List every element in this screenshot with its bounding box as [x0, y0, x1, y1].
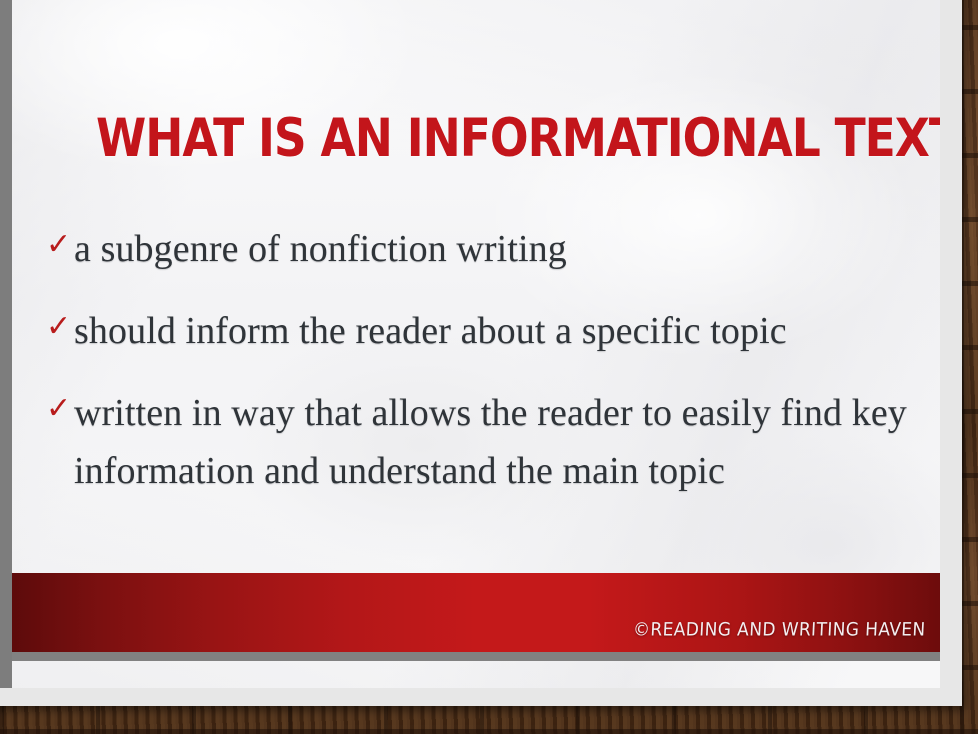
checkmark-icon: ✓ — [46, 384, 74, 434]
slide-canvas: WHAT IS AN INFORMATIONAL TEXT? ✓ a subge… — [12, 0, 940, 688]
footer-band-shadow — [12, 652, 940, 661]
checkmark-icon: ✓ — [46, 302, 74, 352]
bullet-list: ✓ a subgenre of nonfiction writing ✓ sho… — [46, 220, 926, 524]
list-item-label: written in way that allows the reader to… — [74, 384, 926, 500]
slide-border-line: WHAT IS AN INFORMATIONAL TEXT? ✓ a subge… — [0, 0, 938, 688]
list-item: ✓ written in way that allows the reader … — [46, 384, 926, 500]
list-item-label: should inform the reader about a specifi… — [74, 302, 926, 360]
list-item: ✓ a subgenre of nonfiction writing — [46, 220, 926, 278]
slide-outer-frame: WHAT IS AN INFORMATIONAL TEXT? ✓ a subge… — [0, 0, 962, 706]
copyright-credit: ©READING AND WRITING HAVEN — [633, 618, 927, 642]
footer-red-band: ©READING AND WRITING HAVEN — [12, 573, 940, 652]
checkmark-icon: ✓ — [46, 220, 74, 270]
list-item-label: a subgenre of nonfiction writing — [74, 220, 926, 278]
page-title: WHAT IS AN INFORMATIONAL TEXT? — [96, 112, 940, 165]
list-item: ✓ should inform the reader about a speci… — [46, 302, 926, 360]
